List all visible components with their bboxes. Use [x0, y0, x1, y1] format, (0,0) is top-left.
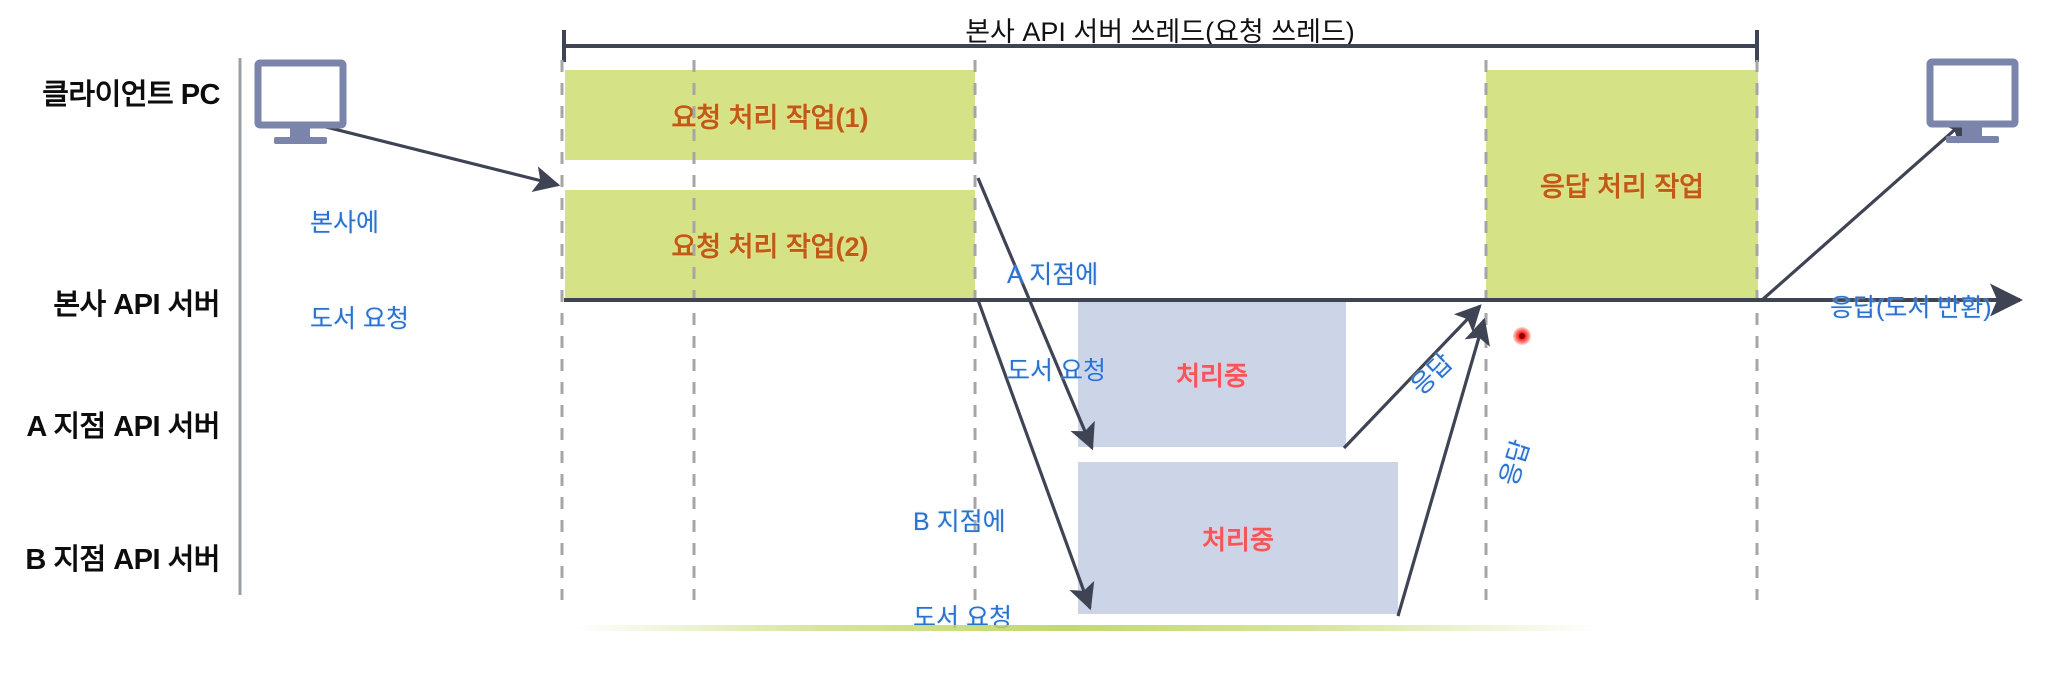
- task-box-request-task-1: 요청 처리 작업(1): [565, 70, 975, 160]
- red-dot-marker: [1513, 327, 1531, 345]
- annotation-final-response: 응답(도서 반환): [1830, 228, 1992, 388]
- annotation-line-1: 응답: [1493, 436, 1538, 490]
- annotation-request-to-a-site: A 지점에 도서 요청: [1007, 195, 1106, 451]
- annotation-response-from-b-site: 응답: [1432, 416, 1598, 509]
- task-box-label: 요청 처리 작업(1): [671, 96, 868, 135]
- lane-label-b-site-api-server: B 지점 API 서버: [25, 536, 220, 578]
- lane-label-hq-api-server: 본사 API 서버: [53, 281, 220, 323]
- monitor-icon-right: [1930, 62, 2015, 143]
- annotation-line-1: B 지점에: [913, 506, 1012, 538]
- processing-box-label: 처리중: [1176, 356, 1248, 393]
- annotation-line-1: 본사에: [310, 207, 409, 239]
- task-box-request-task-2: 요청 처리 작업(2): [565, 190, 975, 299]
- bracket-title: 본사 API 서버 쓰레드(요청 쓰레드): [965, 10, 1355, 49]
- annotation-line-2: 도서 요청: [1007, 355, 1106, 387]
- processing-box-label: 처리중: [1202, 520, 1274, 557]
- task-box-label: 응답 처리 작업: [1540, 165, 1704, 204]
- annotation-line-1: 응답(도서 반환): [1830, 292, 1992, 324]
- task-box-label: 요청 처리 작업(2): [671, 225, 868, 264]
- annotation-request-to-hq: 본사에 도서 요청: [310, 143, 409, 399]
- task-box-response-task: 응답 처리 작업: [1486, 70, 1758, 299]
- annotation-line-2: 도서 요청: [310, 303, 409, 335]
- annotation-request-to-b-site: B 지점에 도서 요청: [913, 442, 1012, 698]
- processing-box-a-site: 처리중: [1078, 302, 1346, 447]
- monitor-icon-left: [258, 63, 343, 144]
- annotation-line-1: 응답: [1404, 347, 1459, 402]
- sequence-diagram: 클라이언트 PC 본사 API 서버 A 지점 API 서버 B 지점 API …: [0, 0, 2048, 631]
- lane-label-a-site-api-server: A 지점 API 서버: [26, 403, 220, 445]
- annotation-response-from-a-site: 응답: [1360, 301, 1504, 448]
- processing-box-b-site: 처리중: [1078, 462, 1398, 614]
- lane-label-client-pc: 클라이언트 PC: [42, 71, 220, 113]
- slide-bottom-accent: [0, 625, 2048, 631]
- annotation-line-1: A 지점에: [1007, 259, 1106, 291]
